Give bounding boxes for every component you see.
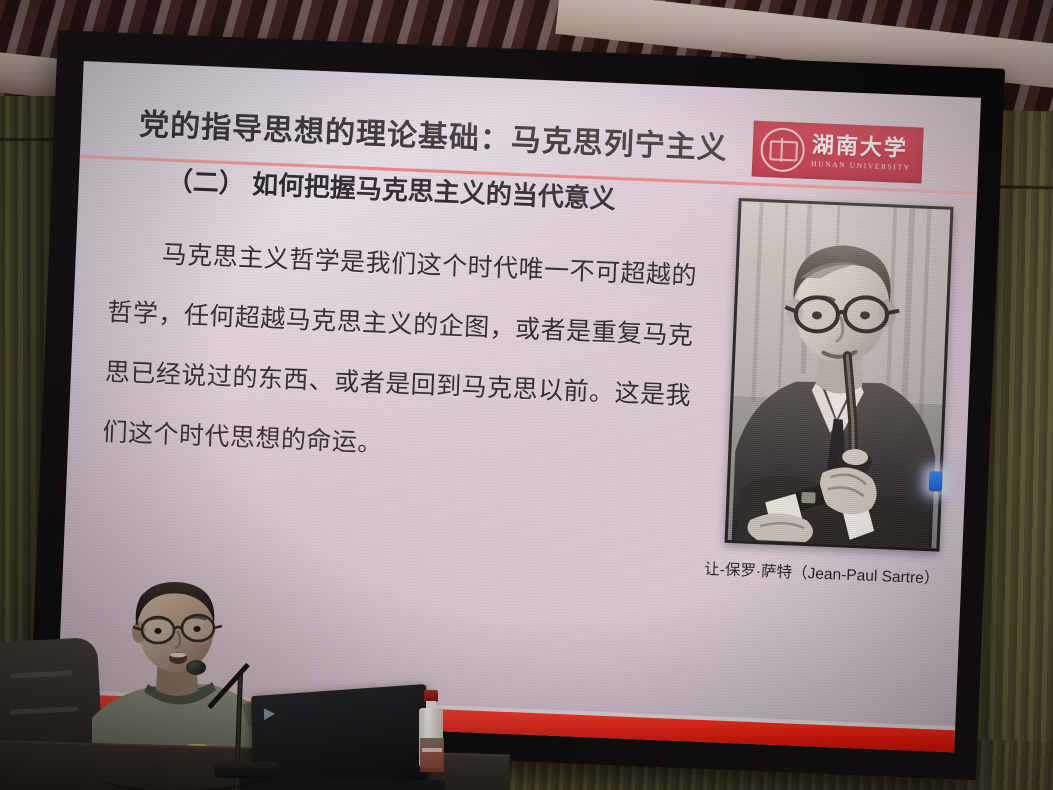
- university-name-en: HUNAN UNIVERSITY: [811, 160, 911, 172]
- sartre-portrait-image: [728, 201, 951, 548]
- sartre-portrait-frame: [725, 198, 954, 552]
- slide-title: 党的指导思想的理论基础：马克思列宁主义: [138, 99, 728, 167]
- presentation-slide: 党的指导思想的理论基础：马克思列宁主义 （二） 如何把握马克思主义的当代意义 马…: [57, 61, 981, 752]
- microphone-base: [214, 762, 278, 778]
- university-name-cn: 湖南大学: [811, 134, 911, 160]
- pointer-cursor-icon[interactable]: [929, 471, 943, 492]
- university-seal-icon: [760, 127, 806, 173]
- photo-caption: 让-保罗·萨特（Jean-Paul Sartre）: [689, 556, 955, 589]
- projection-screen: 党的指导思想的理论基础：马克思列宁主义 （二） 如何把握马克思主义的当代意义 马…: [28, 30, 1005, 790]
- portrait-illustration-icon: [728, 201, 951, 548]
- university-logo-text: 湖南大学 HUNAN UNIVERSITY: [811, 134, 912, 172]
- slide-subtitle: （二） 如何把握马克思主义的当代意义: [166, 161, 616, 216]
- slide-body: 马克思主义哲学是我们这个时代唯一不可超越的 哲学，任何超越马克思主义的企图，或者…: [101, 222, 730, 487]
- hunan-university-logo: 湖南大学 HUNAN UNIVERSITY: [752, 121, 924, 184]
- lecture-hall-photo: 党的指导思想的理论基础：马克思列宁主义 （二） 如何把握马克思主义的当代意义 马…: [0, 0, 1053, 790]
